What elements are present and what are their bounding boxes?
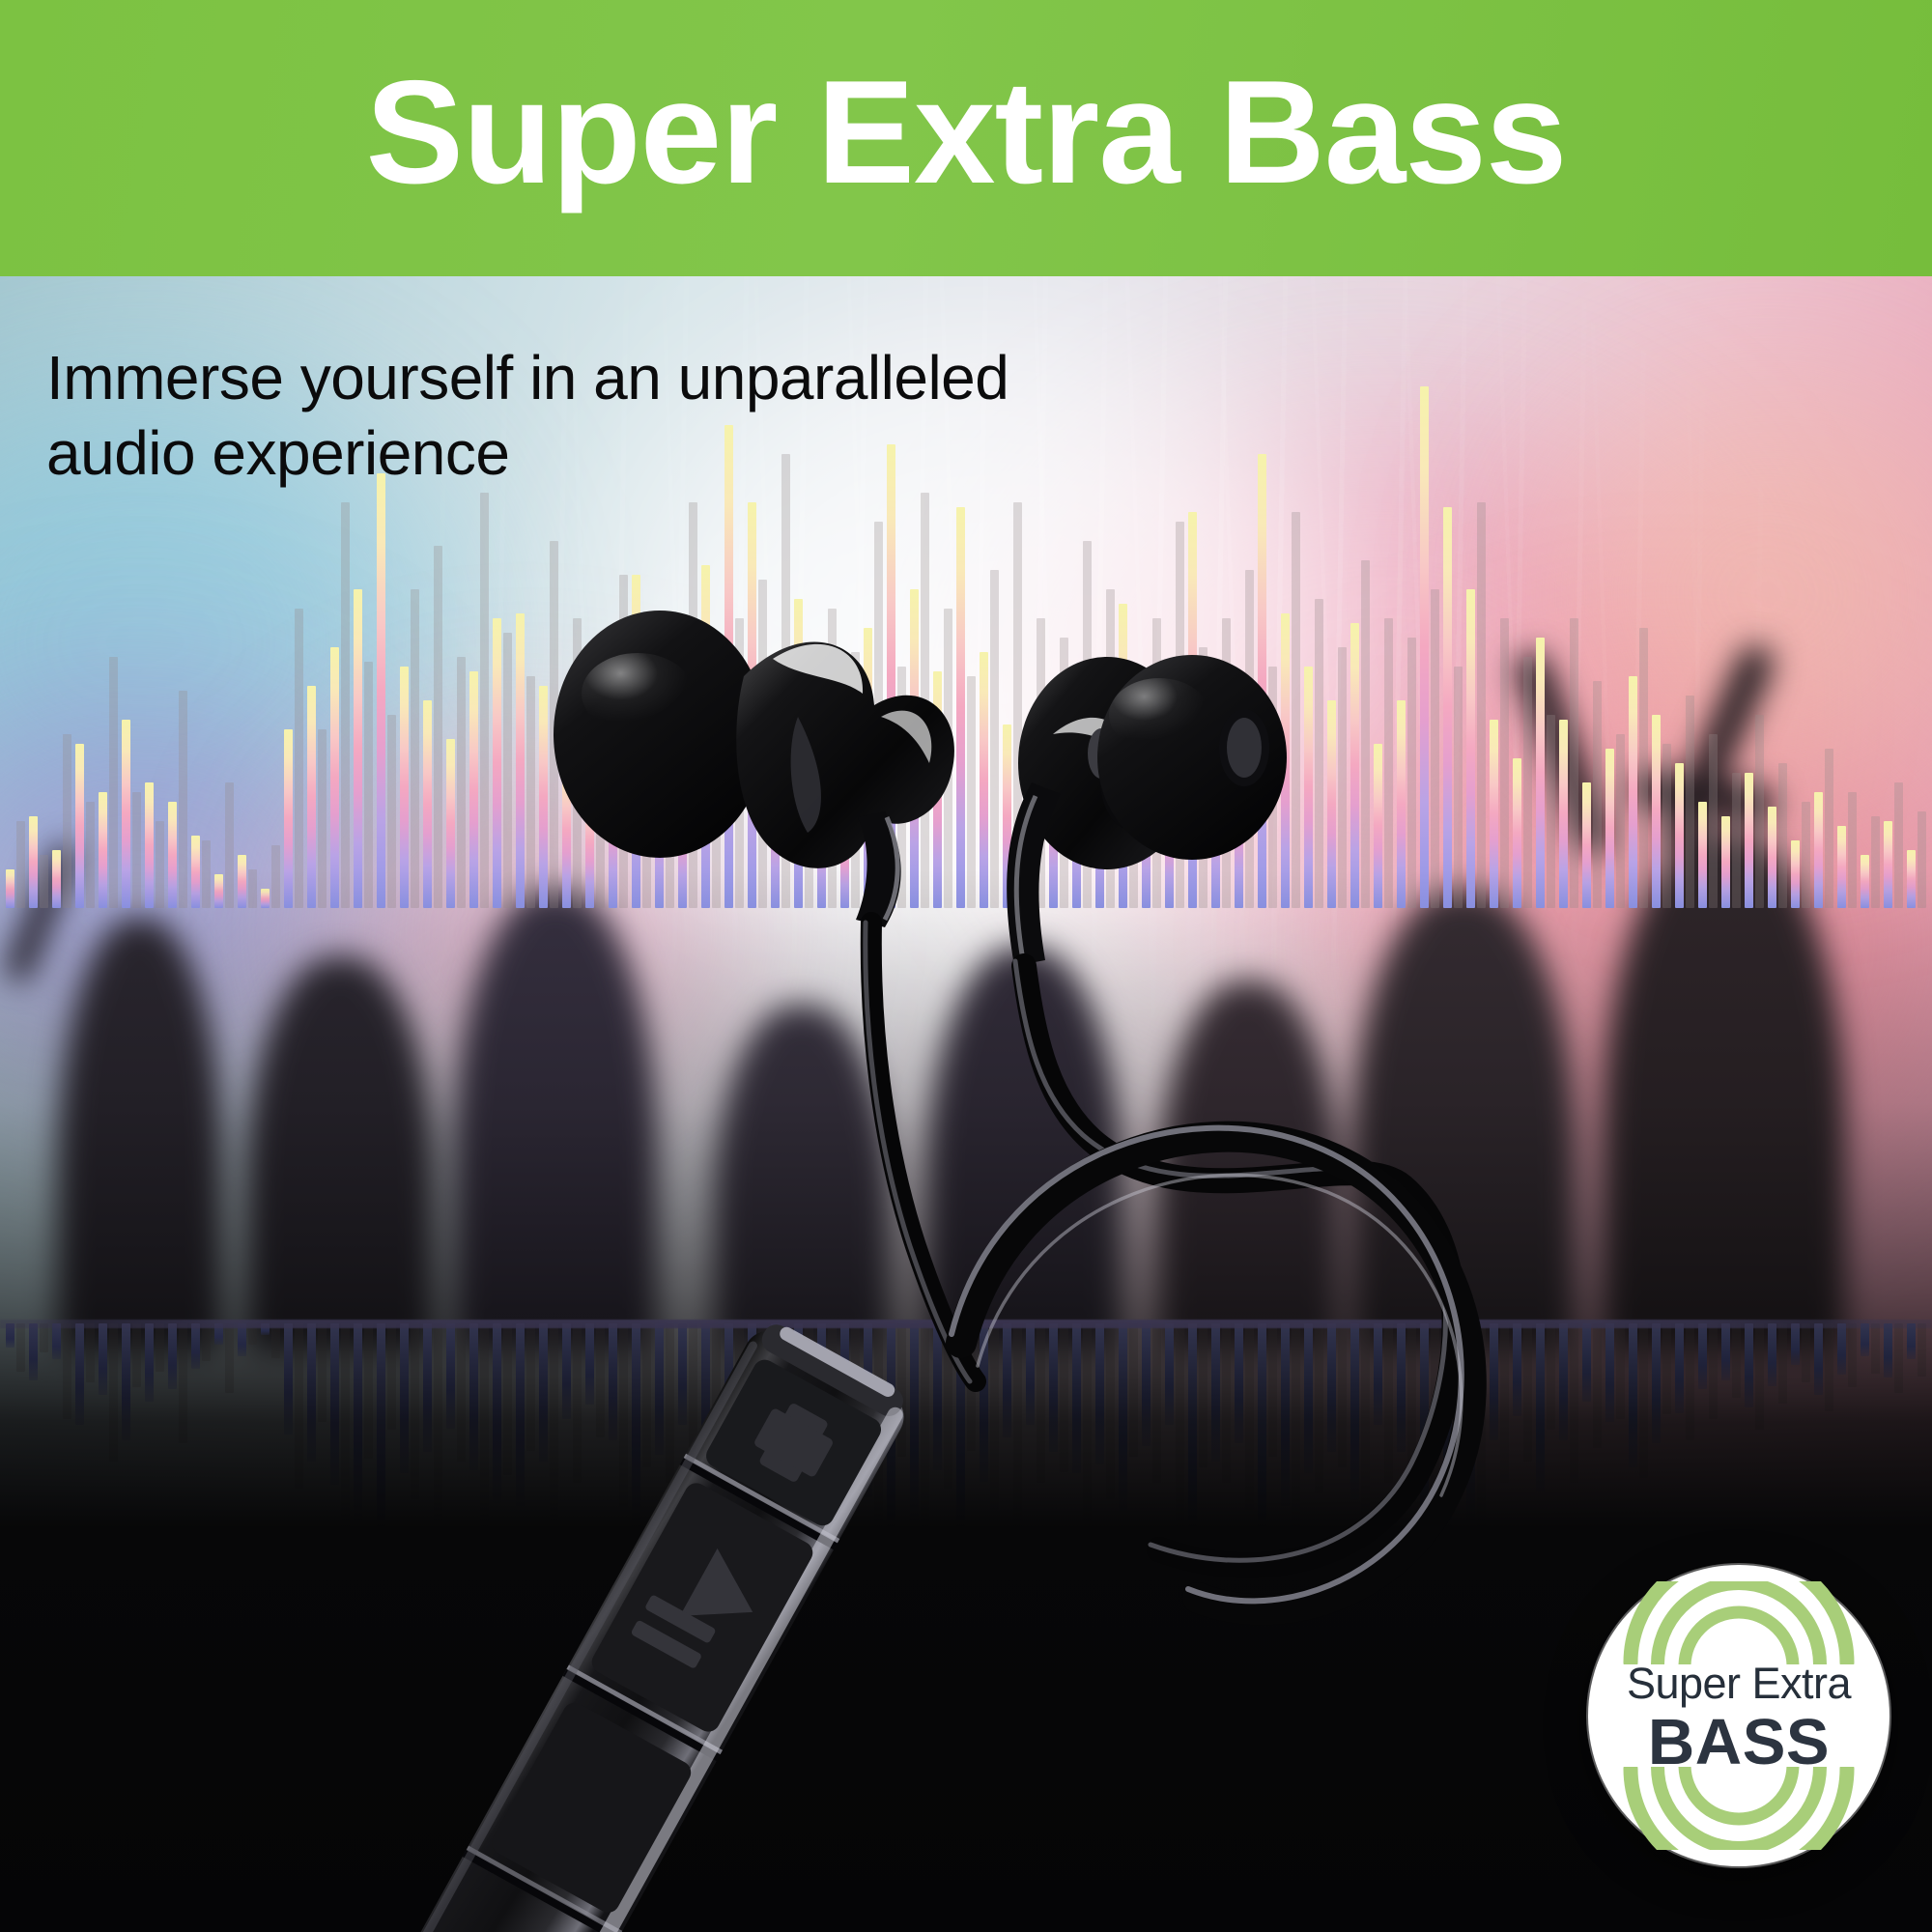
equalizer-shadow-bar — [550, 541, 558, 908]
equalizer-bar — [1281, 613, 1290, 908]
equalizer-bar — [864, 628, 872, 908]
page-title: Super Extra Bass — [366, 59, 1567, 206]
equalizer-shadow-bar — [1106, 589, 1115, 908]
equalizer-shadow-bar — [573, 618, 582, 908]
equalizer-shadow-bar — [1083, 541, 1092, 908]
equalizer-shadow-bar — [1152, 618, 1161, 908]
equalizer-bar — [1350, 623, 1359, 908]
header-banner: Super Extra Bass — [0, 0, 1932, 276]
equalizer-shadow-bar — [781, 454, 790, 908]
equalizer-shadow-bar — [1245, 570, 1254, 908]
equalizer-shadow-bar — [1361, 560, 1370, 908]
equalizer-shadow-bar — [503, 633, 512, 908]
equalizer-shadow-bar — [619, 575, 628, 908]
equalizer-shadow-bar — [828, 609, 837, 908]
equalizer-shadow-bar — [689, 502, 697, 908]
equalizer-bar — [724, 425, 733, 908]
equalizer-shadow-bar — [1407, 638, 1416, 908]
equalizer-bar — [1188, 512, 1197, 908]
badge-text-block: Super Extra BASS — [1627, 1662, 1851, 1775]
equalizer-bar — [493, 618, 501, 908]
equalizer-shadow-bar — [1013, 502, 1022, 908]
subtitle-text: Immerse yourself in an unparalleled audi… — [46, 340, 1206, 491]
equalizer-bar — [1119, 604, 1127, 908]
equalizer-shadow-bar — [341, 502, 350, 908]
equalizer-bar — [1466, 589, 1475, 908]
equalizer-shadow-bar — [1477, 502, 1486, 908]
equalizer-shadow-bar — [874, 522, 883, 908]
equalizer-shadow-bar — [1639, 628, 1648, 908]
equalizer-shadow-bar — [1292, 512, 1300, 908]
equalizer-bar — [377, 473, 385, 908]
equalizer-shadow-bar — [1500, 618, 1509, 908]
badge-line-2: BASS — [1648, 1710, 1830, 1775]
equalizer-shadow-bar — [1176, 522, 1184, 908]
equalizer-bar — [701, 565, 710, 908]
equalizer-shadow-bar — [295, 609, 303, 908]
sound-wave-arcs-top-icon — [1588, 1581, 1889, 1664]
equalizer-bar — [794, 599, 803, 908]
equalizer-shadow-bar — [735, 618, 744, 908]
equalizer-shadow-bar — [758, 580, 767, 908]
equalizer-bar — [354, 589, 362, 908]
equalizer-bar — [748, 502, 756, 908]
equalizer-shadow-bar — [666, 618, 674, 908]
equalizer-bar — [956, 507, 965, 908]
equalizer-bar — [632, 575, 640, 908]
equalizer-shadow-bar — [1384, 618, 1393, 908]
equalizer-shadow-bar — [944, 609, 952, 908]
product-marketing-image: Super Extra Bass Immerse yourself in an … — [0, 0, 1932, 1932]
equalizer-shadow-bar — [411, 589, 419, 908]
equalizer-bar — [1420, 386, 1429, 908]
equalizer-bar — [1443, 507, 1452, 908]
equalizer-shadow-bar — [1222, 618, 1231, 908]
equalizer-shadow-bar — [1315, 599, 1323, 908]
equalizer-bar — [516, 613, 525, 908]
equalizer-shadow-bar — [921, 493, 929, 908]
equalizer-shadow-bar — [434, 546, 442, 908]
equalizer-bar — [1536, 638, 1545, 908]
sound-wave-arcs-bottom-icon — [1588, 1767, 1889, 1850]
badge-line-1: Super Extra — [1627, 1662, 1851, 1705]
equalizer-shadow-bar — [1037, 618, 1045, 908]
super-extra-bass-badge: Super Extra BASS — [1588, 1565, 1889, 1866]
equalizer-shadow-bar — [1060, 638, 1068, 908]
equalizer-bar — [910, 589, 919, 908]
equalizer-shadow-bar — [1570, 618, 1578, 908]
equalizer-shadow-bar — [1431, 589, 1439, 908]
equalizer-shadow-bar — [480, 493, 489, 908]
equalizer-bar — [1258, 454, 1266, 908]
equalizer-shadow-bar — [990, 570, 999, 908]
equalizer-bar — [887, 444, 895, 908]
